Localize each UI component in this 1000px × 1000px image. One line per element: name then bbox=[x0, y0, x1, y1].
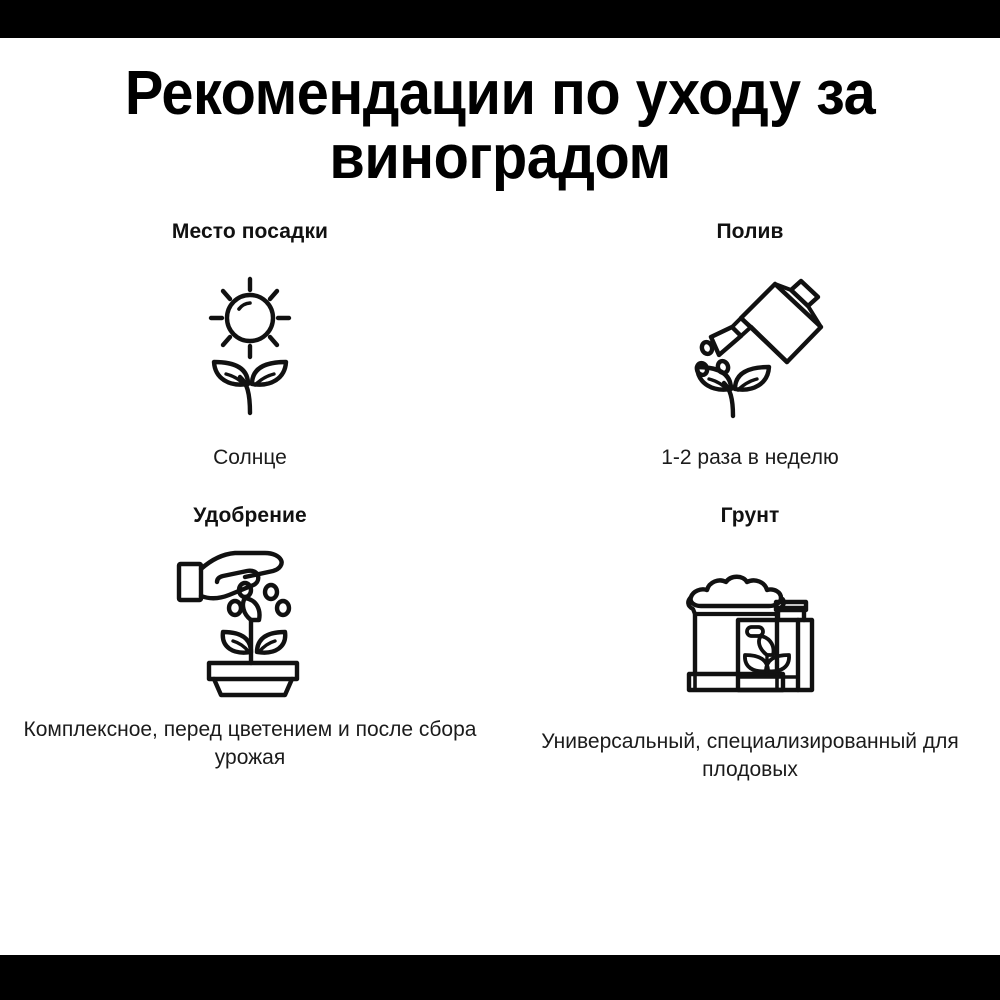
watering-can-plant-icon bbox=[675, 270, 825, 422]
page-title: Рекомендации по уходу за виноградом bbox=[35, 38, 965, 190]
care-card-title: Грунт bbox=[721, 504, 780, 528]
infographic-canvas: Рекомендации по уходу за виноградом Мест… bbox=[0, 38, 1000, 955]
care-card-soil: Грунт Универсальный, специализированный … bbox=[500, 504, 1000, 784]
care-tips-grid: Место посадки bbox=[0, 220, 1000, 784]
care-card-title: Удобрение bbox=[193, 504, 307, 528]
care-card-water: Полив bbox=[500, 220, 1000, 472]
care-card-title: Полив bbox=[716, 220, 783, 244]
care-card-title: Место посадки bbox=[172, 220, 328, 244]
care-card-caption: Универсальный, специализированный для пл… bbox=[518, 728, 982, 784]
care-card-caption: 1-2 раза в неделю bbox=[661, 444, 839, 472]
care-card-caption: Комплексное, перед цветением и после сбо… bbox=[18, 716, 482, 772]
soil-sack-and-bottle-icon bbox=[675, 554, 825, 714]
sun-over-plant-icon bbox=[190, 270, 310, 422]
infographic-root: Рекомендации по уходу за виноградом Мест… bbox=[0, 0, 1000, 1000]
care-card-place: Место посадки bbox=[0, 220, 500, 472]
bottom-letterbox-band bbox=[0, 955, 1000, 1000]
care-card-fertilizer: Удобрение bbox=[0, 504, 500, 784]
hand-fertilizing-potted-plant-icon bbox=[173, 542, 328, 702]
care-card-caption: Солнце bbox=[213, 444, 287, 472]
top-letterbox-band bbox=[0, 0, 1000, 38]
